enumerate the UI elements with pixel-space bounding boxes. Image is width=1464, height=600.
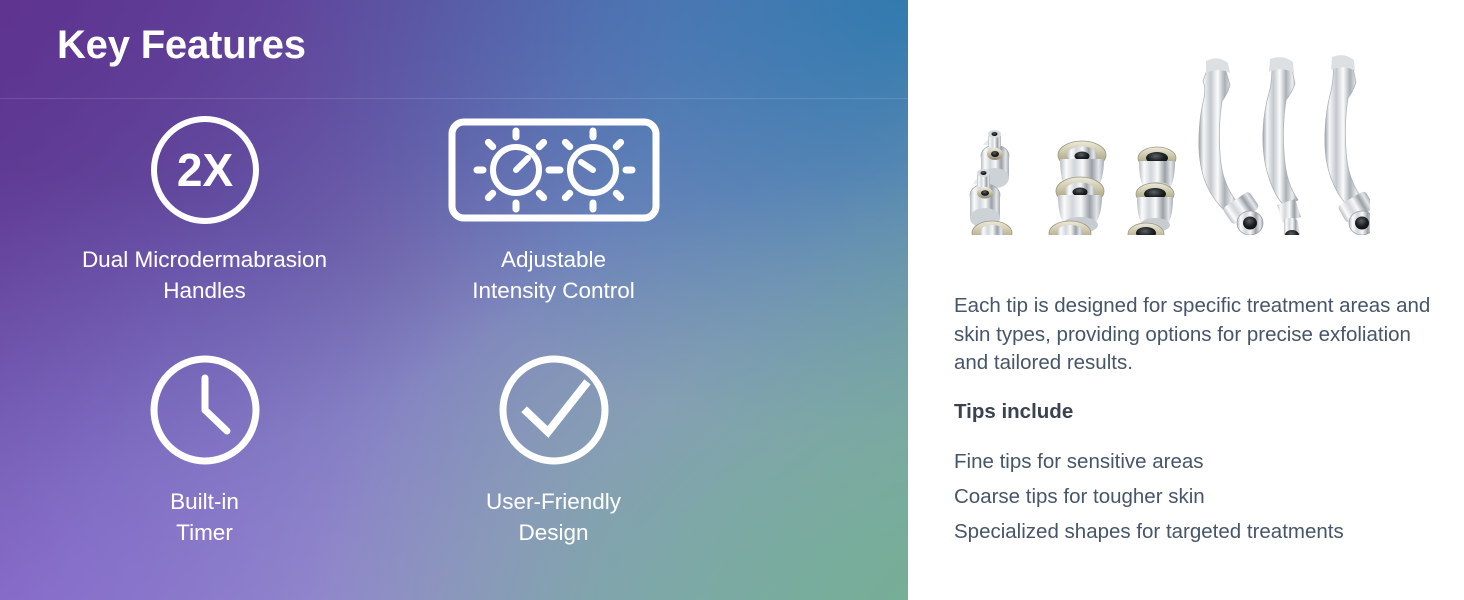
dial-left bbox=[477, 131, 555, 209]
list-item: Coarse tips for tougher skin bbox=[954, 479, 1432, 514]
tips-panel: Each tip is designed for specific treatm… bbox=[908, 0, 1464, 600]
key-features-banner: Key Features 2X Dual Microdermabrasion H… bbox=[0, 0, 1464, 600]
tips-intro-text: Each tip is designed for specific treatm… bbox=[954, 292, 1432, 378]
feature-item-intensity-control: Adjustable Intensity Control bbox=[379, 110, 728, 350]
key-features-panel: Key Features 2X Dual Microdermabrasion H… bbox=[0, 0, 908, 600]
feature-item-dual-handles: 2X Dual Microdermabrasion Handles bbox=[30, 110, 379, 350]
feature-icon-wrap bbox=[448, 110, 660, 230]
2x-icon-text: 2X bbox=[176, 144, 233, 196]
microdermabrasion-tips-image bbox=[950, 55, 1370, 235]
tips-include-heading: Tips include bbox=[954, 400, 1432, 425]
list-item: Specialized shapes for targeted treatmen… bbox=[954, 514, 1432, 549]
2x-circle-icon: 2X bbox=[147, 112, 263, 228]
product-photo bbox=[950, 55, 1370, 235]
features-grid: 2X Dual Microdermabrasion Handles bbox=[0, 110, 908, 590]
feature-icon-wrap bbox=[496, 350, 612, 470]
header-divider bbox=[0, 98, 908, 99]
feature-icon-wrap: 2X bbox=[147, 110, 263, 230]
tips-list: Fine tips for sensitive areas Coarse tip… bbox=[954, 444, 1432, 550]
clock-icon bbox=[147, 352, 263, 468]
feature-item-user-friendly-design: User-Friendly Design bbox=[379, 350, 728, 590]
feature-item-built-in-timer: Built-in Timer bbox=[30, 350, 379, 590]
feature-label: User-Friendly Design bbox=[486, 486, 621, 548]
dial-right bbox=[554, 131, 632, 209]
handpiece bbox=[1263, 57, 1301, 235]
page-title: Key Features bbox=[57, 25, 306, 65]
tips-copy: Each tip is designed for specific treatm… bbox=[954, 292, 1432, 549]
list-item: Fine tips for sensitive areas bbox=[954, 444, 1432, 479]
intensity-dials-panel-icon bbox=[448, 118, 660, 222]
feature-icon-wrap bbox=[147, 350, 263, 470]
feature-label: Dual Microdermabrasion Handles bbox=[82, 244, 327, 306]
handpiece bbox=[1199, 58, 1263, 235]
handpiece bbox=[1325, 55, 1370, 235]
check-circle-icon bbox=[496, 352, 612, 468]
feature-label: Built-in Timer bbox=[170, 486, 239, 548]
panel-header: Key Features bbox=[0, 0, 908, 98]
feature-label: Adjustable Intensity Control bbox=[472, 244, 635, 306]
